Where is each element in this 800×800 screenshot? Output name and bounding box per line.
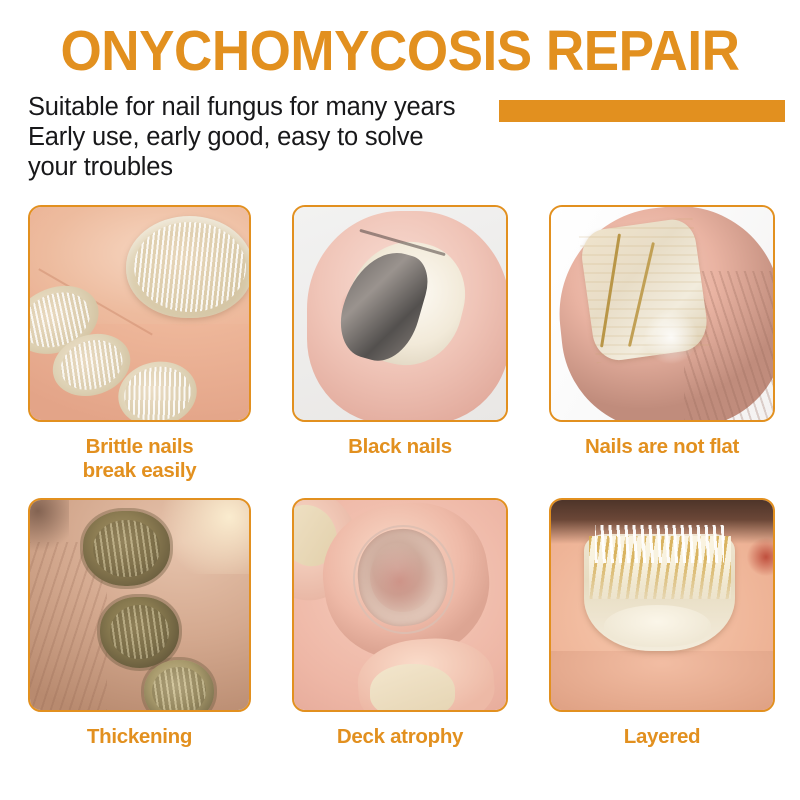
- card-image-frame: [28, 498, 251, 712]
- card-caption: Brittle nails break easily: [28, 435, 251, 483]
- card-image-frame: [549, 498, 775, 712]
- card-layered[interactable]: Layered: [549, 498, 775, 749]
- card-brittle-nails[interactable]: Brittle nails break easily: [28, 205, 251, 483]
- card-caption: Layered: [549, 725, 775, 749]
- photo-brittle-nails: [30, 207, 249, 420]
- card-row-2: Thickening Deck atrophy: [0, 498, 800, 791]
- card-thickening[interactable]: Thickening: [28, 498, 251, 749]
- photo-deck-atrophy: [294, 500, 506, 710]
- card-caption: Thickening: [28, 725, 251, 749]
- caption-line-2: break easily: [28, 459, 251, 483]
- card-image-frame: [292, 205, 508, 422]
- card-nails-are-not-flat[interactable]: Nails are not flat: [549, 205, 775, 459]
- page-title: ONYCHOMYCOSIS REPAIR: [28, 20, 772, 82]
- photo-black-nails: [294, 207, 506, 420]
- card-row-1: Brittle nails break easily Black nails: [0, 205, 800, 498]
- subtitle-line-3: your troubles: [28, 152, 548, 182]
- card-image-frame: [549, 205, 775, 422]
- caption-line-1: Brittle nails: [86, 435, 194, 458]
- card-black-nails[interactable]: Black nails: [292, 205, 508, 459]
- subtitle-block: Suitable for nail fungus for many years …: [28, 92, 548, 182]
- card-image-frame: [28, 205, 251, 422]
- caption-line-1: Layered: [624, 725, 701, 748]
- product-infographic-page: ONYCHOMYCOSIS REPAIR Suitable for nail f…: [0, 0, 800, 800]
- caption-line-1: Nails are not flat: [585, 435, 739, 458]
- caption-line-1: Deck atrophy: [337, 725, 463, 748]
- caption-line-1: Thickening: [87, 725, 192, 748]
- subtitle-line-1: Suitable for nail fungus for many years: [28, 92, 548, 122]
- photo-nails-not-flat: [551, 207, 773, 420]
- card-image-frame: [292, 498, 508, 712]
- subtitle-line-2: Early use, early good, easy to solve: [28, 122, 548, 152]
- accent-bar: [499, 100, 785, 122]
- photo-layered: [551, 500, 773, 710]
- card-caption: Deck atrophy: [292, 725, 508, 749]
- card-caption: Nails are not flat: [549, 435, 775, 459]
- card-deck-atrophy[interactable]: Deck atrophy: [292, 498, 508, 749]
- caption-line-1: Black nails: [348, 435, 452, 458]
- card-caption: Black nails: [292, 435, 508, 459]
- photo-thickening: [30, 500, 249, 710]
- symptom-card-grid: Brittle nails break easily Black nails: [0, 205, 800, 791]
